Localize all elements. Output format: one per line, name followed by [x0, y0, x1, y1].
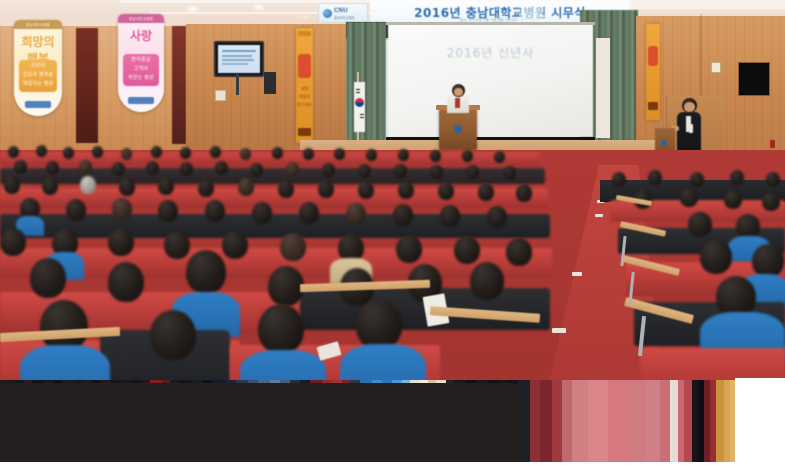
- audience-head: [210, 146, 221, 158]
- audience-head: [112, 198, 132, 220]
- audience-head: [724, 190, 742, 209]
- audience-head: [700, 240, 732, 274]
- aisle-marker: [595, 214, 603, 217]
- wall-vent-panel: [738, 62, 770, 96]
- banner-line: 국민의: [14, 63, 62, 69]
- presenter-face: [684, 102, 695, 112]
- audience-head: [250, 163, 263, 177]
- audience-head: [470, 262, 504, 300]
- audience-head: [158, 200, 178, 222]
- audience-head: [516, 184, 532, 202]
- monitor-mount: [236, 73, 239, 95]
- screen-top-rail: [386, 22, 595, 25]
- korean-national-flag: [354, 82, 365, 132]
- audience-head: [494, 151, 505, 163]
- banner-headline: 사랑: [118, 27, 164, 44]
- light-switch[interactable]: [711, 62, 721, 73]
- audience-head: [252, 202, 272, 224]
- audience-head: [440, 205, 460, 227]
- audience-head: [4, 176, 20, 194]
- cnu-emblem-icon: [323, 9, 332, 18]
- audience-head: [180, 147, 191, 159]
- audience-head: [280, 233, 306, 261]
- cnu-logo-sublabel: 충남대학교병원: [334, 15, 355, 20]
- audience-head: [63, 147, 74, 159]
- audience-head: [322, 163, 335, 177]
- audience-head: [299, 202, 319, 224]
- wall-switch-plate[interactable]: [215, 90, 226, 101]
- audience-head: [150, 310, 196, 360]
- wall-white-panel: [596, 38, 610, 138]
- audience-head: [438, 182, 454, 200]
- audience-head: [766, 172, 780, 187]
- audience-head: [393, 204, 413, 226]
- audience-head: [430, 150, 441, 162]
- audience-head: [396, 235, 422, 263]
- audience-head: [268, 266, 304, 306]
- audience-head: [258, 304, 304, 354]
- audience-head: [92, 146, 103, 158]
- wall-strip-banner-orange: 새해 복많이 받으세요: [296, 28, 313, 143]
- audience-head: [119, 178, 135, 196]
- banner-line: 환자중심: [118, 57, 164, 63]
- presenter-badge: [689, 124, 693, 133]
- wall-recess: [76, 28, 98, 143]
- stage-curtain-left: [346, 22, 386, 147]
- audience-head: [112, 162, 125, 176]
- wall-banner-pink: 충남대학교병원 사랑 환자중심 고객의 위한는 병원: [118, 14, 164, 112]
- speaker-podium: [439, 108, 477, 150]
- audience-head: [222, 231, 248, 259]
- wall-speaker: [264, 72, 276, 94]
- audience-head: [358, 181, 374, 199]
- audience-head: [356, 300, 402, 350]
- audience-head: [8, 146, 19, 158]
- audience-head: [36, 145, 47, 157]
- audience-head: [186, 250, 226, 294]
- smear-dark-blob: [0, 383, 524, 465]
- audience-head: [334, 148, 345, 160]
- ceiling-light: [252, 4, 266, 10]
- speaker-necktie: [455, 98, 460, 108]
- ceiling-light: [186, 6, 200, 12]
- slide-title: 2016년 신년사: [388, 44, 593, 61]
- audience-head: [680, 188, 698, 207]
- audience-head: [108, 228, 134, 256]
- audience-head: [79, 160, 92, 174]
- audience-head: [42, 177, 58, 195]
- audience-head: [180, 162, 193, 176]
- banner-top-label: 충남대학교병원: [14, 22, 62, 28]
- audience-head: [358, 164, 371, 178]
- audience-head: [487, 206, 507, 228]
- banner-line: 고객의: [118, 66, 164, 72]
- aisle-marker: [572, 272, 582, 276]
- audience-head: [478, 183, 494, 201]
- audience-head: [121, 148, 132, 160]
- banner-line: 위한는 병원: [118, 75, 164, 81]
- audience-head: [398, 181, 414, 199]
- audience-head: [466, 165, 479, 179]
- audience-head: [164, 231, 190, 259]
- banner-top-label: 충남대학교병원: [118, 16, 164, 22]
- strip-line: 받으세요: [296, 102, 313, 108]
- audience-head: [151, 146, 162, 158]
- strip-line: 새해: [296, 86, 313, 92]
- audience-head: [398, 149, 409, 161]
- white-corner-cutout: [735, 378, 785, 465]
- audience-head: [648, 170, 662, 185]
- audience-head: [108, 262, 144, 302]
- cnu-hospital-logo-sign: CNU 충남대학교병원: [318, 3, 368, 23]
- audience-head: [688, 212, 712, 237]
- screenshot-root: 충남대학교병원 희망의 행복 국민의 건강과 행복을 책임지는 병원 충남대학교…: [0, 0, 785, 465]
- aisle-marker: [552, 328, 566, 333]
- audience-head: [205, 200, 225, 222]
- audience-head: [278, 180, 294, 198]
- audience-head: [286, 162, 299, 176]
- audience-head: [215, 161, 228, 175]
- audience-head: [46, 161, 59, 175]
- podium-emblem-icon: [454, 125, 462, 133]
- banner-line: 책임지는 병원: [14, 81, 62, 87]
- wall-strip-banner-right: [646, 24, 660, 120]
- audience-head: [346, 203, 366, 225]
- podium-speaker-face: [454, 88, 463, 96]
- projection-screen: 2016년 신년사: [388, 24, 593, 137]
- cnu-logo-label: CNU: [334, 8, 348, 14]
- banner-line: 건강과 행복을: [14, 72, 62, 78]
- secondary-podium-emblem-icon: [661, 140, 667, 146]
- wall-recess: [172, 26, 186, 144]
- wall-banner-yellow: 충남대학교병원 희망의 행복 국민의 건강과 행복을 책임지는 병원: [14, 20, 62, 116]
- banner-logo: [25, 101, 51, 108]
- banner-logo: [128, 97, 154, 104]
- audience-head: [454, 236, 480, 264]
- audience-head: [240, 148, 251, 160]
- strip-line: 복많이: [296, 94, 313, 100]
- audience-head: [430, 165, 443, 179]
- audience-head: [366, 149, 377, 161]
- audience-head: [238, 178, 254, 196]
- bottom-smear-artifact: [0, 380, 785, 465]
- wall-monitor[interactable]: [214, 41, 264, 77]
- audience-head: [146, 161, 159, 175]
- audience-head: [0, 228, 26, 256]
- audience-head: [506, 238, 532, 266]
- audience-head: [198, 179, 214, 197]
- audience-head: [318, 180, 334, 198]
- audience-head: [303, 148, 314, 160]
- audience-head: [394, 164, 407, 178]
- audience-head: [158, 177, 174, 195]
- auditorium-photo: 충남대학교병원 희망의 행복 국민의 건강과 행복을 책임지는 병원 충남대학교…: [0, 0, 785, 400]
- audience-head: [66, 199, 86, 221]
- audience-head: [762, 192, 780, 211]
- audience-head: [503, 166, 516, 180]
- audience-head: [612, 172, 626, 187]
- audience-head: [30, 258, 66, 298]
- exit-indicator: [770, 140, 775, 148]
- audience-head: [690, 172, 704, 187]
- audience-head: [272, 147, 283, 159]
- audience-head-grey: [80, 176, 96, 194]
- audience-head: [752, 244, 784, 278]
- audience-head: [462, 150, 473, 162]
- audience-head: [14, 160, 27, 174]
- audience-head: [730, 170, 744, 185]
